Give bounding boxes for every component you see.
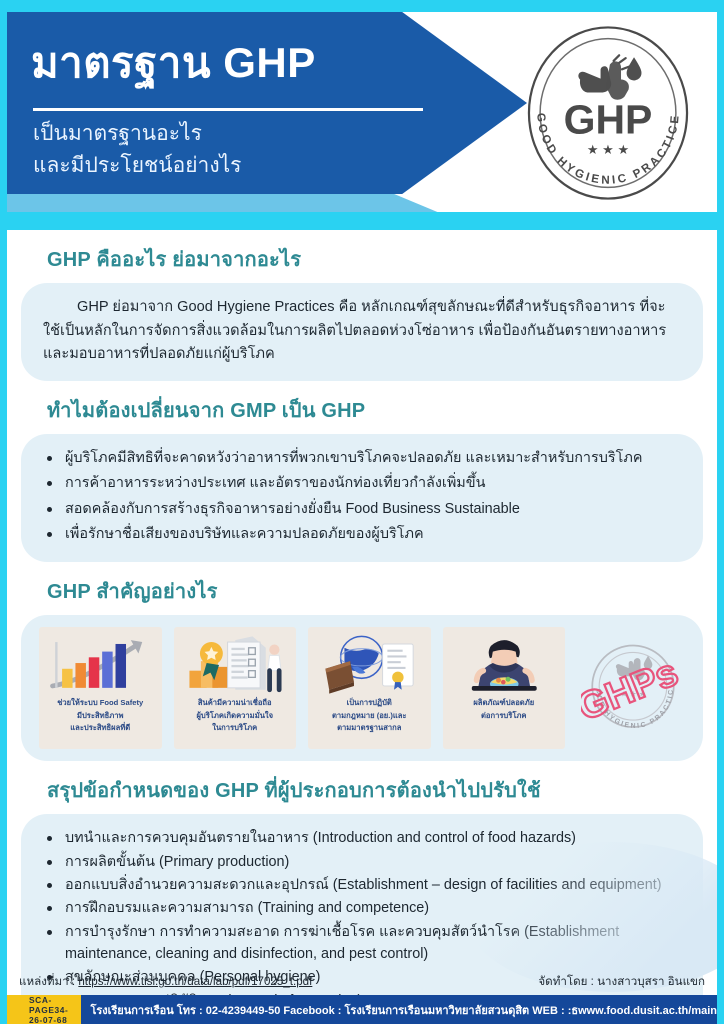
list-item: การค้าอาหารระหว่างประเทศ และอัตราของนักท… [43, 472, 681, 495]
header-arrow-accent [7, 194, 447, 212]
author-name: นางสาวบุสรา อินแขก [597, 975, 705, 988]
benefit-cards-row: ช่วยให้ระบบ Food Safety มีประสิทธิภาพ แล… [39, 627, 685, 749]
caption-line: มีประสิทธิภาพ [57, 710, 143, 723]
section-title-why-change: ทำไมต้องเปลี่ยนจาก GMP เป็น GHP [47, 394, 703, 426]
ghp-seal-icon: GHP ★ ★ ★ GOOD HYGIENIC PRACTICE [515, 20, 701, 206]
ghps-stamp-icon: ★ ★ ★ GOOD HYGIENIC PRACTICE GHPs [581, 636, 685, 740]
header-subtitle-line2: และมีประโยชน์อย่างไร [33, 150, 241, 182]
benefit-card-caption: สินค้ามีความน่าเชื่อถือ ผู้บริโภคเกิดควา… [193, 695, 276, 735]
header: มาตรฐาน GHP เป็นมาตรฐานอะไร และมีประโยชน… [7, 12, 717, 212]
caption-line: และประสิทธิผลที่ดี [57, 722, 143, 735]
page-title: มาตรฐาน GHP [31, 39, 316, 86]
cyan-divider-strip [7, 212, 717, 230]
header-subtitle: เป็นมาตรฐานอะไร และมีประโยชน์อย่างไร [33, 118, 241, 181]
header-divider [33, 108, 423, 111]
source-label: แหล่งที่มา : [19, 975, 75, 988]
author-label: จัดทำโดย : [538, 975, 593, 988]
caption-line: สินค้ามีความน่าเชื่อถือ [196, 697, 273, 710]
benefit-card-caption: เป็นการปฏิบัติ ตามกฎหมาย (อย.)และ ตามมาต… [329, 695, 410, 735]
list-item: เพื่อรักษาชื่อเสียงของบริษัทและความปลอดภ… [43, 523, 681, 546]
why-change-list: ผู้บริโภคมีสิทธิที่จะคาดหวังว่าอาหารที่พ… [43, 447, 681, 546]
benefit-card-legal-compliance: เป็นการปฏิบัติ ตามกฎหมาย (อย.)และ ตามมาต… [308, 627, 431, 749]
section-title-why-important: GHP สำคัญอย่างไร [47, 575, 703, 607]
caption-line: ช่วยให้ระบบ Food Safety [57, 697, 143, 710]
benefit-card-caption: ช่วยให้ระบบ Food Safety มีประสิทธิภาพ แล… [54, 695, 146, 735]
bar-chart-growth-icon [43, 633, 158, 695]
benefit-card-safe-product: ผลิตภัณฑ์ปลอดภัย ต่อการบริโภค [443, 627, 566, 749]
author-block: จัดทำโดย : นางสาวบุสรา อินแขก [538, 973, 705, 991]
benefit-card-food-safety: ช่วยให้ระบบ Food Safety มีประสิทธิภาพ แล… [39, 627, 162, 749]
panel-why-change: ผู้บริโภคมีสิทธิที่จะคาดหวังว่าอาหารที่พ… [21, 434, 703, 562]
person-eating-icon [447, 633, 562, 695]
caption-line: ผู้บริโภคเกิดความมั่นใจ [196, 710, 273, 723]
page-code-badge: SCA-PAGE34-26-07-68 [7, 995, 81, 1024]
globe-document-icon [312, 633, 427, 695]
footer: แหล่งที่มา : https://www.tisi.go.th/data… [7, 973, 717, 1024]
section-title-what-is-ghp: GHP คืออะไร ย่อมาจากอะไร [47, 243, 703, 275]
ghp-definition-paragraph: GHP ย่อมาจาก Good Hygiene Practices คือ … [43, 296, 681, 367]
section-title-requirements: สรุปข้อกำหนดของ GHP ที่ผู้ประกอบการต้องน… [47, 774, 703, 806]
footer-bar: SCA-PAGE34-26-07-68 โรงเรียนการเรือน โทร… [7, 995, 717, 1024]
panel-what-is-ghp: GHP ย่อมาจาก Good Hygiene Practices คือ … [21, 283, 703, 381]
benefit-card-product-trust: สินค้ามีความน่าเชื่อถือ ผู้บริโภคเกิดควา… [174, 627, 297, 749]
ghp-seal-logo: GHP ★ ★ ★ GOOD HYGIENIC PRACTICE [515, 20, 701, 206]
list-item: สอดคล้องกับการสร้างธุรกิจอาหารอย่างยั่งย… [43, 498, 681, 521]
seal-center-text: GHP [564, 96, 653, 142]
source-row: แหล่งที่มา : https://www.tisi.go.th/data… [7, 973, 717, 995]
ghps-stamp: ★ ★ ★ GOOD HYGIENIC PRACTICE GHPs [581, 636, 685, 740]
caption-line: ผลิตภัณฑ์ปลอดภัย [473, 697, 534, 710]
caption-line: ต่อการบริโภค [473, 710, 534, 723]
panel-benefit-cards: ช่วยให้ระบบ Food Safety มีประสิทธิภาพ แล… [21, 615, 703, 761]
source-block: แหล่งที่มา : https://www.tisi.go.th/data… [19, 973, 312, 991]
infographic-page: มาตรฐาน GHP เป็นมาตรฐานอะไร และมีประโยชน… [0, 0, 724, 1024]
seal-stars: ★ ★ ★ [587, 142, 629, 157]
source-link[interactable]: https://www.tisi.go.th/data/lab/pdf/1702… [78, 975, 312, 988]
list-item: ผู้บริโภคมีสิทธิที่จะคาดหวังว่าอาหารที่พ… [43, 447, 681, 470]
caption-line: เป็นการปฏิบัติ [332, 697, 407, 710]
caption-line: ในการบริโภค [196, 722, 273, 735]
header-subtitle-line1: เป็นมาตรฐานอะไร [33, 118, 241, 150]
caption-line: ตามกฎหมาย (อย.)และ [332, 710, 407, 723]
certificate-boxes-icon [178, 633, 293, 695]
footer-contact-text: โรงเรียนการเรือน โทร : 02-4239449-50 Fac… [81, 1001, 717, 1019]
benefit-card-caption: ผลิตภัณฑ์ปลอดภัย ต่อการบริโภค [470, 695, 537, 722]
caption-line: ตามมาตรฐานสากล [332, 722, 407, 735]
